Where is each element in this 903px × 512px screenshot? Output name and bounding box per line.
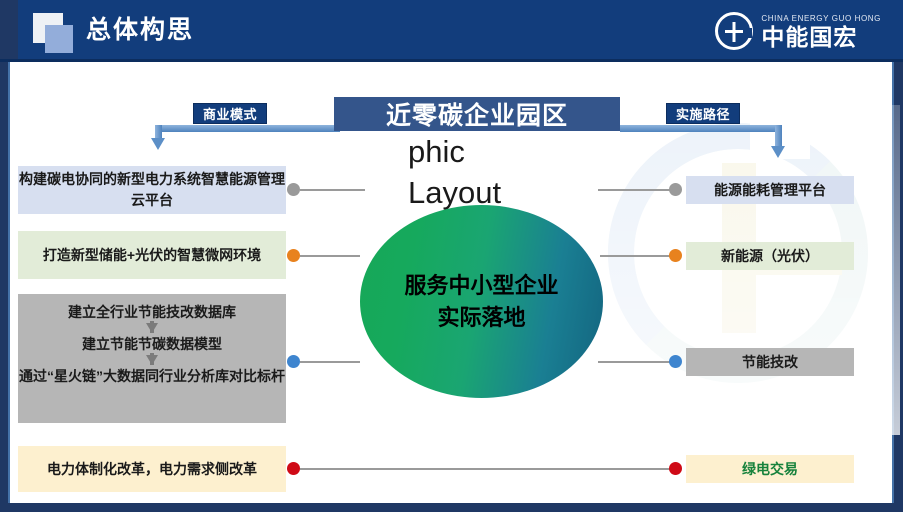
center-hub-line-2: 实际落地 (437, 305, 525, 330)
watermark-fade-overlay (600, 105, 900, 435)
placeholder-line-1: phic (408, 131, 628, 172)
brand-chinese-name: 中能国宏 (761, 24, 881, 50)
header-bottom-rule (0, 59, 903, 62)
connector-dot-left-4 (287, 462, 300, 475)
left-box-4[interactable]: 电力体制化改革，电力需求侧改革 (18, 446, 286, 492)
slide-canvas: 总体构思 CHINA ENERGY GUO HONG 中能国宏 近零碳企业园区 … (0, 0, 903, 512)
connector-line-right-2 (600, 255, 675, 257)
left-box-3-flow: 建立全行业节能技改数据库 建立节能节碳数据模型 通过“星火链”大数据同行业分析库… (18, 302, 286, 386)
background-watermark-logo (600, 105, 900, 435)
right-box-4[interactable]: 绿电交易 (686, 455, 854, 483)
right-box-4-text: 绿电交易 (742, 459, 798, 480)
center-hub-ellipse: 服务中小型企业实际落地 (360, 205, 603, 398)
connector-dot-left-1 (287, 183, 300, 196)
right-elbow-arrow-head-icon (771, 146, 785, 158)
main-title-banner: 近零碳企业园区 (334, 97, 620, 131)
left-box-4-text: 电力体制化改革，电力需求侧改革 (47, 459, 257, 480)
tag-implementation-path-label: 实施路径 (676, 104, 730, 123)
right-box-2-text: 新能源（光伏） (721, 246, 819, 267)
left-box-3-step-1: 建立全行业节能技改数据库 (68, 302, 236, 322)
connector-line-left-4 (300, 468, 672, 470)
header-accent-bar (0, 0, 18, 62)
right-box-1-text: 能源能耗管理平台 (714, 180, 826, 201)
main-title-text: 近零碳企业园区 (386, 96, 568, 132)
flow-down-arrow-icon-1 (146, 323, 158, 333)
connector-dot-left-3 (287, 355, 300, 368)
left-elbow-arrow-bar (155, 125, 340, 132)
right-box-1[interactable]: 能源能耗管理平台 (686, 176, 854, 204)
frame-right-border (894, 0, 903, 512)
center-hub-line-1: 服务中小型企业 (404, 273, 558, 298)
guohong-circle-icon (715, 12, 753, 50)
right-elbow-arrow-bar (620, 125, 782, 132)
placeholder-graphic-text: phic Layout (408, 131, 628, 213)
right-box-3[interactable]: 节能技改 (686, 348, 854, 376)
left-box-3[interactable]: 建立全行业节能技改数据库 建立节能节碳数据模型 通过“星火链”大数据同行业分析库… (18, 294, 286, 423)
brand-text: CHINA ENERGY GUO HONG 中能国宏 (761, 13, 881, 50)
brand-logo: CHINA ENERGY GUO HONG 中能国宏 (715, 10, 881, 52)
connector-dot-right-2 (669, 249, 682, 262)
connector-dot-left-2 (287, 249, 300, 262)
left-box-2[interactable]: 打造新型储能+光伏的智慧微网环境 (18, 231, 286, 279)
flow-down-arrow-icon-2 (146, 355, 158, 365)
center-hub-text: 服务中小型企业实际落地 (404, 270, 558, 334)
left-box-1[interactable]: 构建碳电协同的新型电力系统智慧能源管理云平台 (18, 166, 286, 214)
connector-dot-right-4 (669, 462, 682, 475)
frame-left-border (0, 0, 8, 512)
left-box-3-step-2: 建立节能节碳数据模型 (82, 334, 222, 354)
page-title: 总体构思 (86, 11, 194, 49)
right-box-3-text: 节能技改 (742, 352, 798, 373)
connector-line-left-1 (300, 189, 365, 191)
left-box-2-text: 打造新型储能+光伏的智慧微网环境 (43, 245, 261, 266)
connector-line-right-1 (598, 189, 676, 191)
placeholder-line-2: Layout (408, 172, 628, 213)
connector-line-left-2 (300, 255, 360, 257)
frame-inner-right-line (892, 62, 894, 503)
right-box-2[interactable]: 新能源（光伏） (686, 242, 854, 270)
guohong-circle-gap (743, 28, 752, 38)
frame-bottom-border (0, 503, 903, 512)
slide-header: 总体构思 CHINA ENERGY GUO HONG 中能国宏 (0, 0, 903, 62)
tag-business-model-label: 商业模式 (203, 104, 257, 123)
connector-dot-right-3 (669, 355, 682, 368)
tag-business-model: 商业模式 (193, 103, 267, 124)
brand-english-name: CHINA ENERGY GUO HONG (761, 13, 881, 24)
left-box-1-text: 构建碳电协同的新型电力系统智慧能源管理云平台 (18, 169, 286, 211)
connector-dot-right-1 (669, 183, 682, 196)
header-square-blue-icon (45, 25, 73, 53)
left-elbow-arrow-head-icon (151, 138, 165, 150)
connector-line-left-3 (300, 361, 360, 363)
frame-inner-left-line (8, 62, 10, 503)
connector-line-right-3 (598, 361, 676, 363)
tag-implementation-path: 实施路径 (666, 103, 740, 124)
left-box-3-step-3: 通过“星火链”大数据同行业分析库对比标杆 (19, 366, 285, 386)
